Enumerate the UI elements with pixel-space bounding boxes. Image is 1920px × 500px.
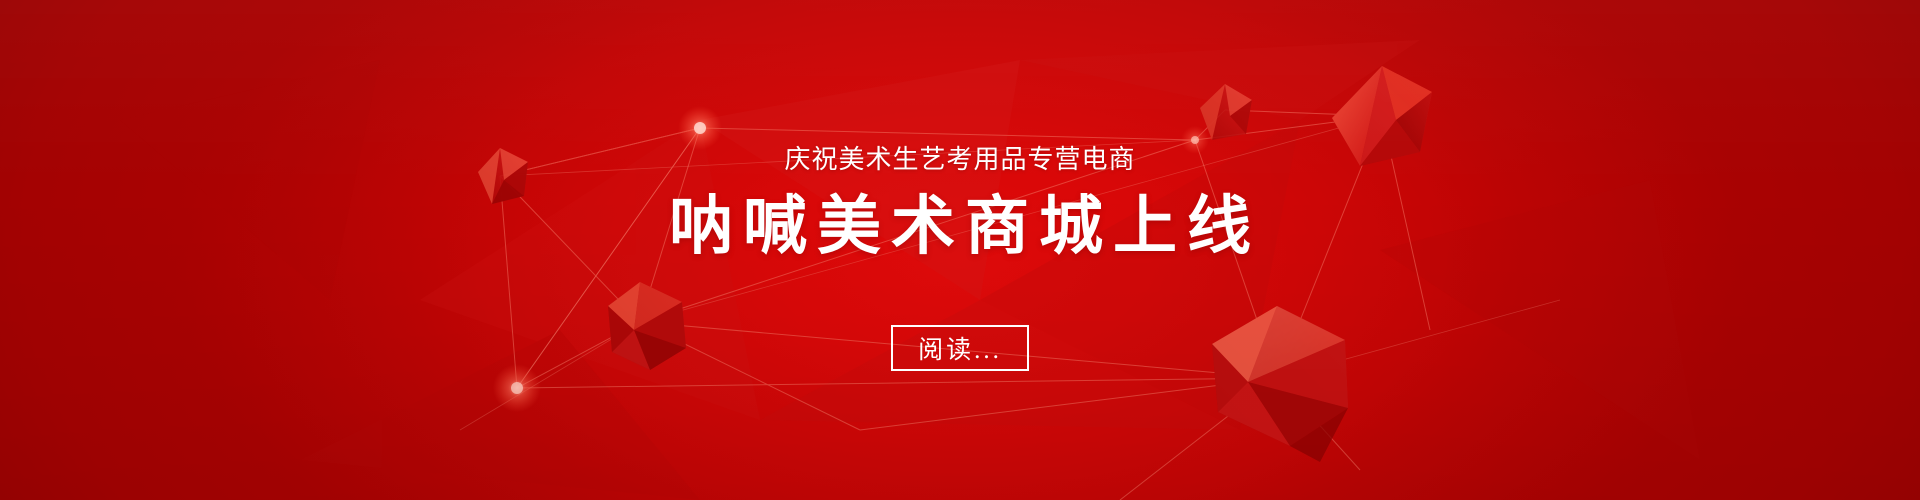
- cta-container: 阅读...: [0, 325, 1920, 371]
- banner-headline: 呐喊美术商城上线: [659, 193, 1261, 260]
- promo-banner: 庆祝美术生艺考用品专营电商 呐喊美术商城上线 阅读...: [0, 0, 1920, 500]
- banner-subtitle: 庆祝美术生艺考用品专营电商: [784, 144, 1135, 175]
- banner-content: 庆祝美术生艺考用品专营电商 呐喊美术商城上线 阅读...: [0, 0, 1920, 500]
- read-more-button[interactable]: 阅读...: [891, 325, 1029, 371]
